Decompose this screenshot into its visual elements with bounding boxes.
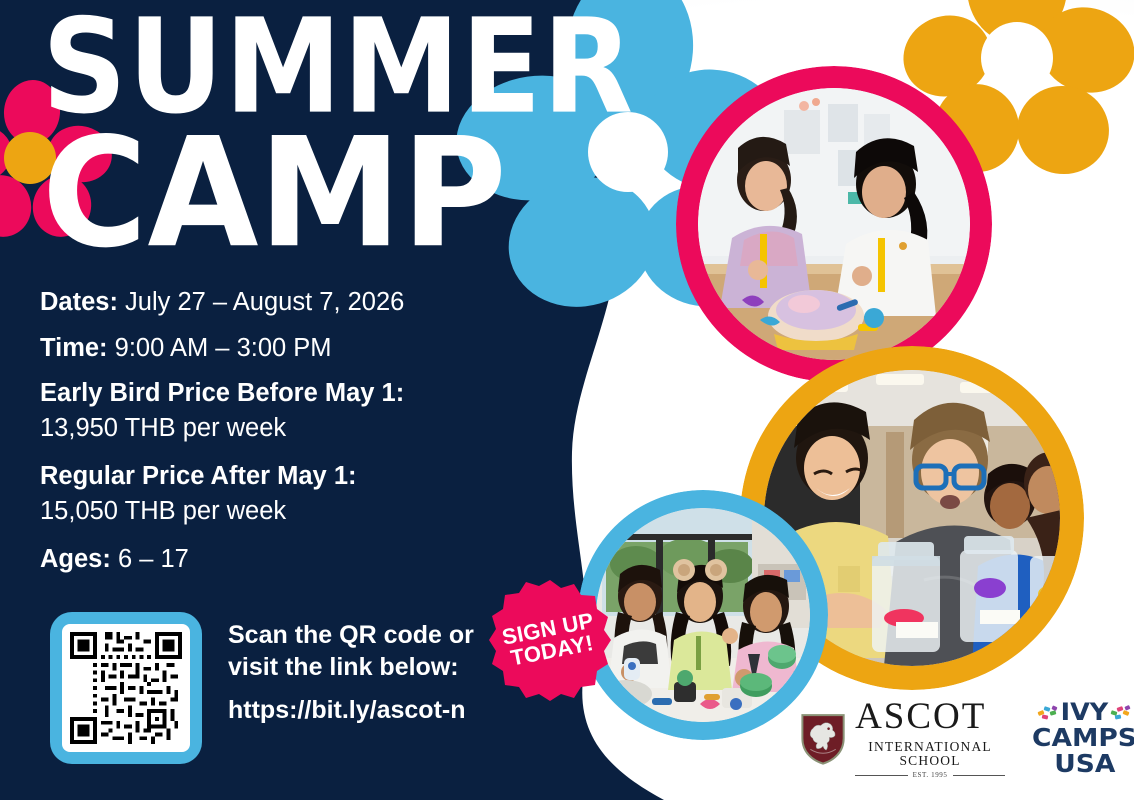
early-bird-label-row: Early Bird Price Before May 1: bbox=[40, 377, 510, 410]
signup-link[interactable]: https://bit.ly/ascot-n bbox=[228, 696, 466, 725]
photo-craft-girls bbox=[676, 66, 992, 382]
early-bird-price: 13,950 THB per week bbox=[40, 412, 510, 445]
ascot-wordmark: ASCOT INTERNATIONAL SCHOOL EST. 1995 bbox=[855, 698, 1005, 779]
photo-image-craft-girls bbox=[698, 88, 970, 360]
regular-price-label: Regular Price After May 1: bbox=[40, 462, 357, 490]
logo-row: ASCOT INTERNATIONAL SCHOOL EST. 1995 bbox=[800, 698, 1134, 779]
scan-line-2: visit the link below: bbox=[228, 652, 474, 684]
regular-price-value: 15,050 THB per week bbox=[40, 495, 510, 528]
photo-image-craft-trio bbox=[596, 508, 810, 722]
summer-camp-poster: SUMMER CAMP Dates: July 27 – August 7, 2… bbox=[0, 0, 1134, 800]
ivy-line-2: CAMPS bbox=[1032, 726, 1134, 750]
early-bird-label: Early Bird Price Before May 1: bbox=[40, 379, 404, 407]
ascot-est-text: EST. 1995 bbox=[913, 771, 948, 779]
camp-details: Dates: July 27 – August 7, 2026 Time: 9:… bbox=[40, 286, 510, 588]
rule-right bbox=[953, 775, 1006, 776]
ascot-subtitle: INTERNATIONAL SCHOOL bbox=[855, 740, 1005, 767]
ascot-logo: ASCOT INTERNATIONAL SCHOOL EST. 1995 bbox=[800, 698, 1005, 779]
qr-code[interactable] bbox=[62, 624, 190, 752]
scan-line-1: Scan the QR code or bbox=[228, 620, 474, 652]
page-title: SUMMER CAMP bbox=[42, 14, 580, 236]
confetti-left-icon bbox=[1037, 705, 1059, 721]
headline-line-2: CAMP bbox=[42, 130, 656, 257]
dates-value: July 27 – August 7, 2026 bbox=[125, 288, 404, 316]
detail-row-dates: Dates: July 27 – August 7, 2026 bbox=[40, 286, 510, 319]
rule-left bbox=[855, 775, 908, 776]
regular-price-label-row: Regular Price After May 1: bbox=[40, 460, 510, 493]
detail-row-time: Time: 9:00 AM – 3:00 PM bbox=[40, 332, 510, 365]
time-label: Time: bbox=[40, 334, 108, 362]
dates-label: Dates: bbox=[40, 288, 118, 316]
qr-code-container[interactable] bbox=[50, 612, 202, 764]
qr-code-image bbox=[70, 632, 182, 744]
ascot-name: ASCOT bbox=[855, 698, 1005, 735]
time-value: 9:00 AM – 3:00 PM bbox=[115, 334, 332, 362]
detail-row-ages: Ages: 6 – 17 bbox=[40, 543, 510, 576]
confetti-right-icon bbox=[1110, 705, 1132, 721]
ivy-top-row: IVY bbox=[1037, 701, 1132, 724]
scan-instructions: Scan the QR code or visit the link below… bbox=[228, 620, 474, 683]
ivy-camps-usa-logo: IVY CAMPS USA bbox=[1035, 701, 1134, 775]
ascot-est-row: EST. 1995 bbox=[855, 771, 1005, 779]
ages-label: Ages: bbox=[40, 545, 111, 573]
badge-text: SIGN UP TODAY! bbox=[477, 567, 622, 712]
sign-up-today-badge[interactable]: SIGN UP TODAY! bbox=[488, 578, 612, 702]
ascot-shield-icon bbox=[800, 706, 846, 772]
ivy-line-1: IVY bbox=[1061, 701, 1109, 724]
photo-craft-trio bbox=[578, 490, 828, 740]
ivy-line-3: USA bbox=[1054, 752, 1115, 776]
ages-value: 6 – 17 bbox=[118, 545, 189, 573]
